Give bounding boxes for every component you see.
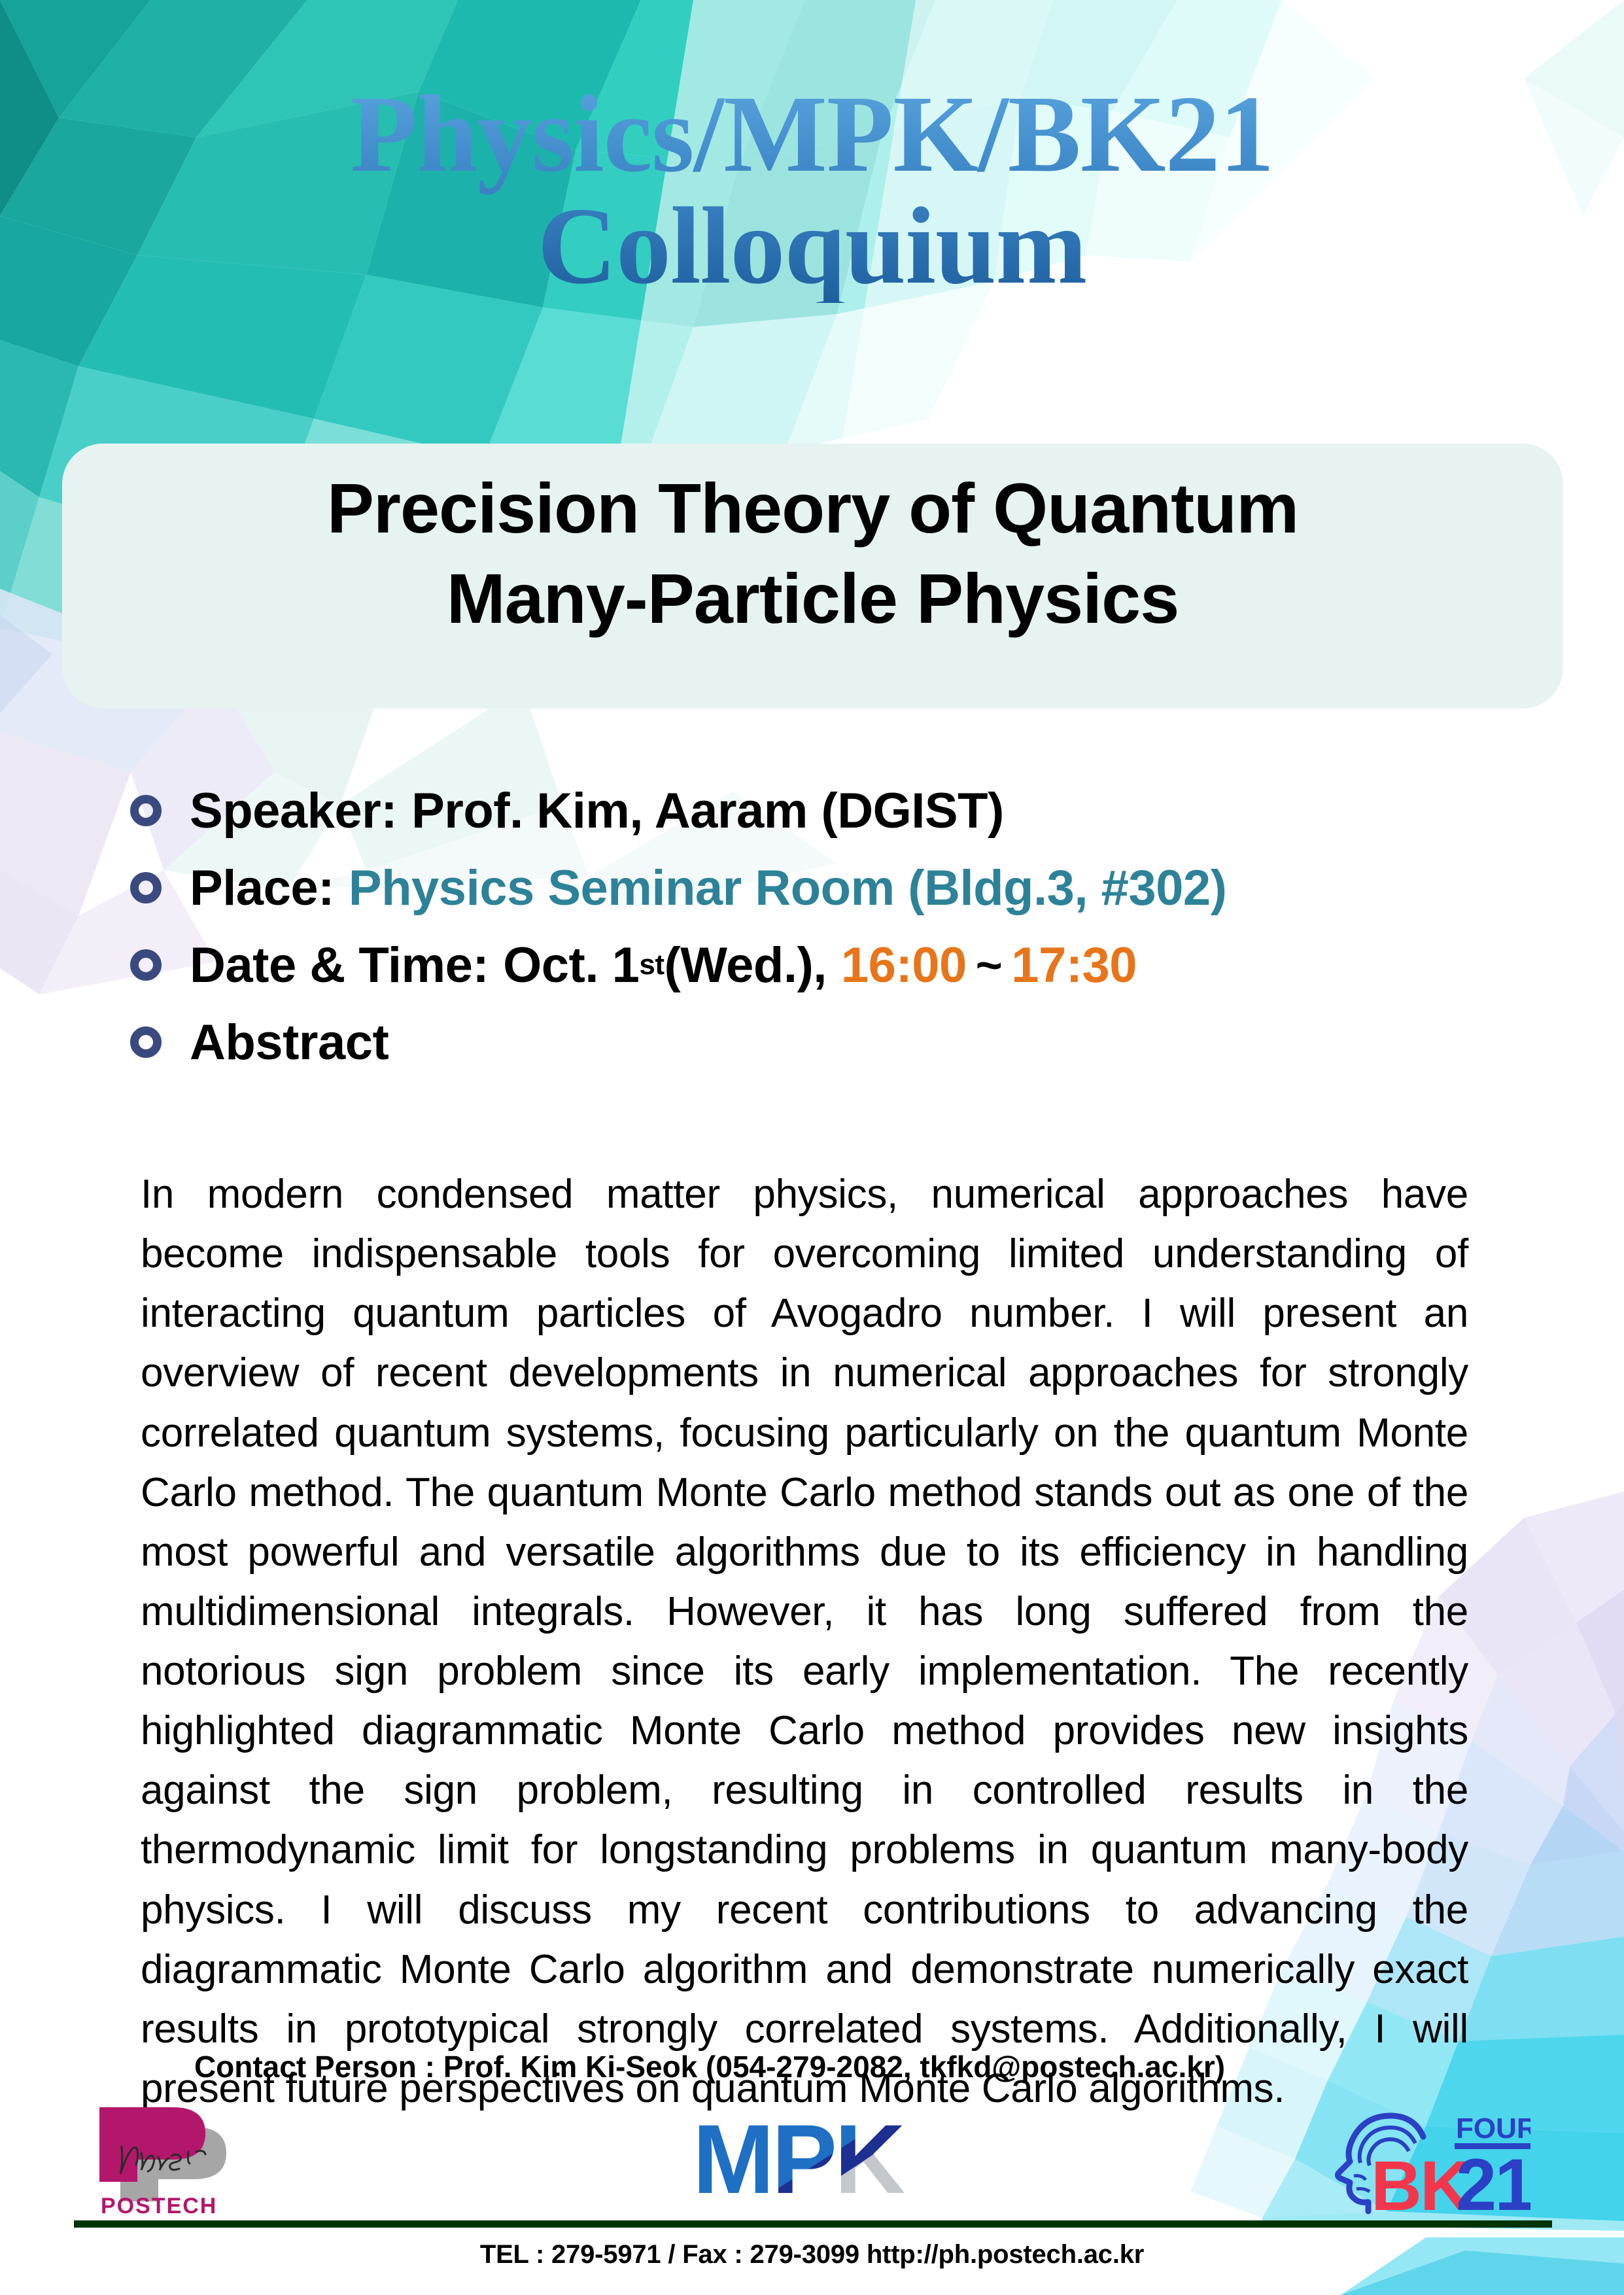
ring-bullet-icon bbox=[130, 949, 162, 981]
abstract-label: Abstract bbox=[190, 1014, 389, 1071]
ring-bullet-icon bbox=[130, 1026, 162, 1058]
place-label: Place: bbox=[190, 860, 334, 917]
postech-physics-logo: POSTECH bbox=[85, 2103, 235, 2221]
talk-title: Precision Theory of Quantum Many-Particl… bbox=[62, 463, 1563, 644]
datetime-date-rest: (Wed.), bbox=[665, 937, 827, 994]
bk21-21-label: 21 bbox=[1456, 2144, 1530, 2218]
datetime-time-start: 16:00 bbox=[841, 937, 967, 994]
event-info-list: Speaker: Prof. Kim, Aaram (DGIST) Place:… bbox=[121, 772, 1547, 1081]
datetime-time-separator: ~ bbox=[967, 939, 1011, 991]
talk-title-line1: Precision Theory of Quantum bbox=[62, 463, 1563, 553]
postech-wordmark: POSTECH bbox=[101, 2194, 217, 2218]
info-row-abstract: Abstract bbox=[121, 1004, 1547, 1081]
info-row-place: Place: Physics Seminar Room (Bldg.3, #30… bbox=[121, 849, 1547, 926]
place-value: Physics Seminar Room (Bldg.3, #302) bbox=[349, 860, 1227, 917]
datetime-date-suffix: st bbox=[639, 949, 664, 981]
ring-bullet-icon bbox=[130, 872, 162, 903]
poster-header: Physics/MPK/BK21 Colloquium bbox=[0, 0, 1624, 406]
poster-page: Physics/MPK/BK21 Colloquium Precision Th… bbox=[0, 0, 1624, 2295]
ring-bullet-icon bbox=[130, 795, 162, 826]
datetime-label: Date & Time: bbox=[190, 937, 489, 994]
talk-title-line2: Many-Particle Physics bbox=[62, 553, 1563, 644]
mpk-logo: MPK MPK bbox=[690, 2107, 906, 2211]
datetime-time-end: 17:30 bbox=[1011, 937, 1137, 994]
info-row-datetime: Date & Time: Oct. 1 st (Wed.), 16:00 ~ 1… bbox=[121, 926, 1547, 1004]
footer-contact-line: TEL : 279-5971 / Fax : 279-3099 http://p… bbox=[0, 2240, 1624, 2269]
speaker-value: Prof. Kim, Aaram (DGIST) bbox=[411, 782, 1004, 839]
bk21-four-label: FOUR bbox=[1456, 2112, 1530, 2145]
datetime-date: Oct. 1 bbox=[503, 937, 639, 994]
bk21-four-logo: FOUR BK 21 bbox=[1328, 2094, 1530, 2218]
abstract-body: In modern condensed matter physics, nume… bbox=[141, 1165, 1468, 2118]
footer-divider bbox=[74, 2220, 1552, 2228]
contact-person: Contact Person : Prof. Kim Ki-Seok (054-… bbox=[0, 2049, 1419, 2084]
info-row-speaker: Speaker: Prof. Kim, Aaram (DGIST) bbox=[121, 772, 1547, 849]
speaker-label: Speaker: bbox=[190, 782, 397, 839]
header-title-line2: Colloquium bbox=[0, 190, 1624, 302]
header-title: Physics/MPK/BK21 Colloquium bbox=[0, 79, 1624, 303]
talk-title-box: Precision Theory of Quantum Many-Particl… bbox=[62, 444, 1563, 709]
header-title-line1: Physics/MPK/BK21 bbox=[351, 73, 1274, 195]
